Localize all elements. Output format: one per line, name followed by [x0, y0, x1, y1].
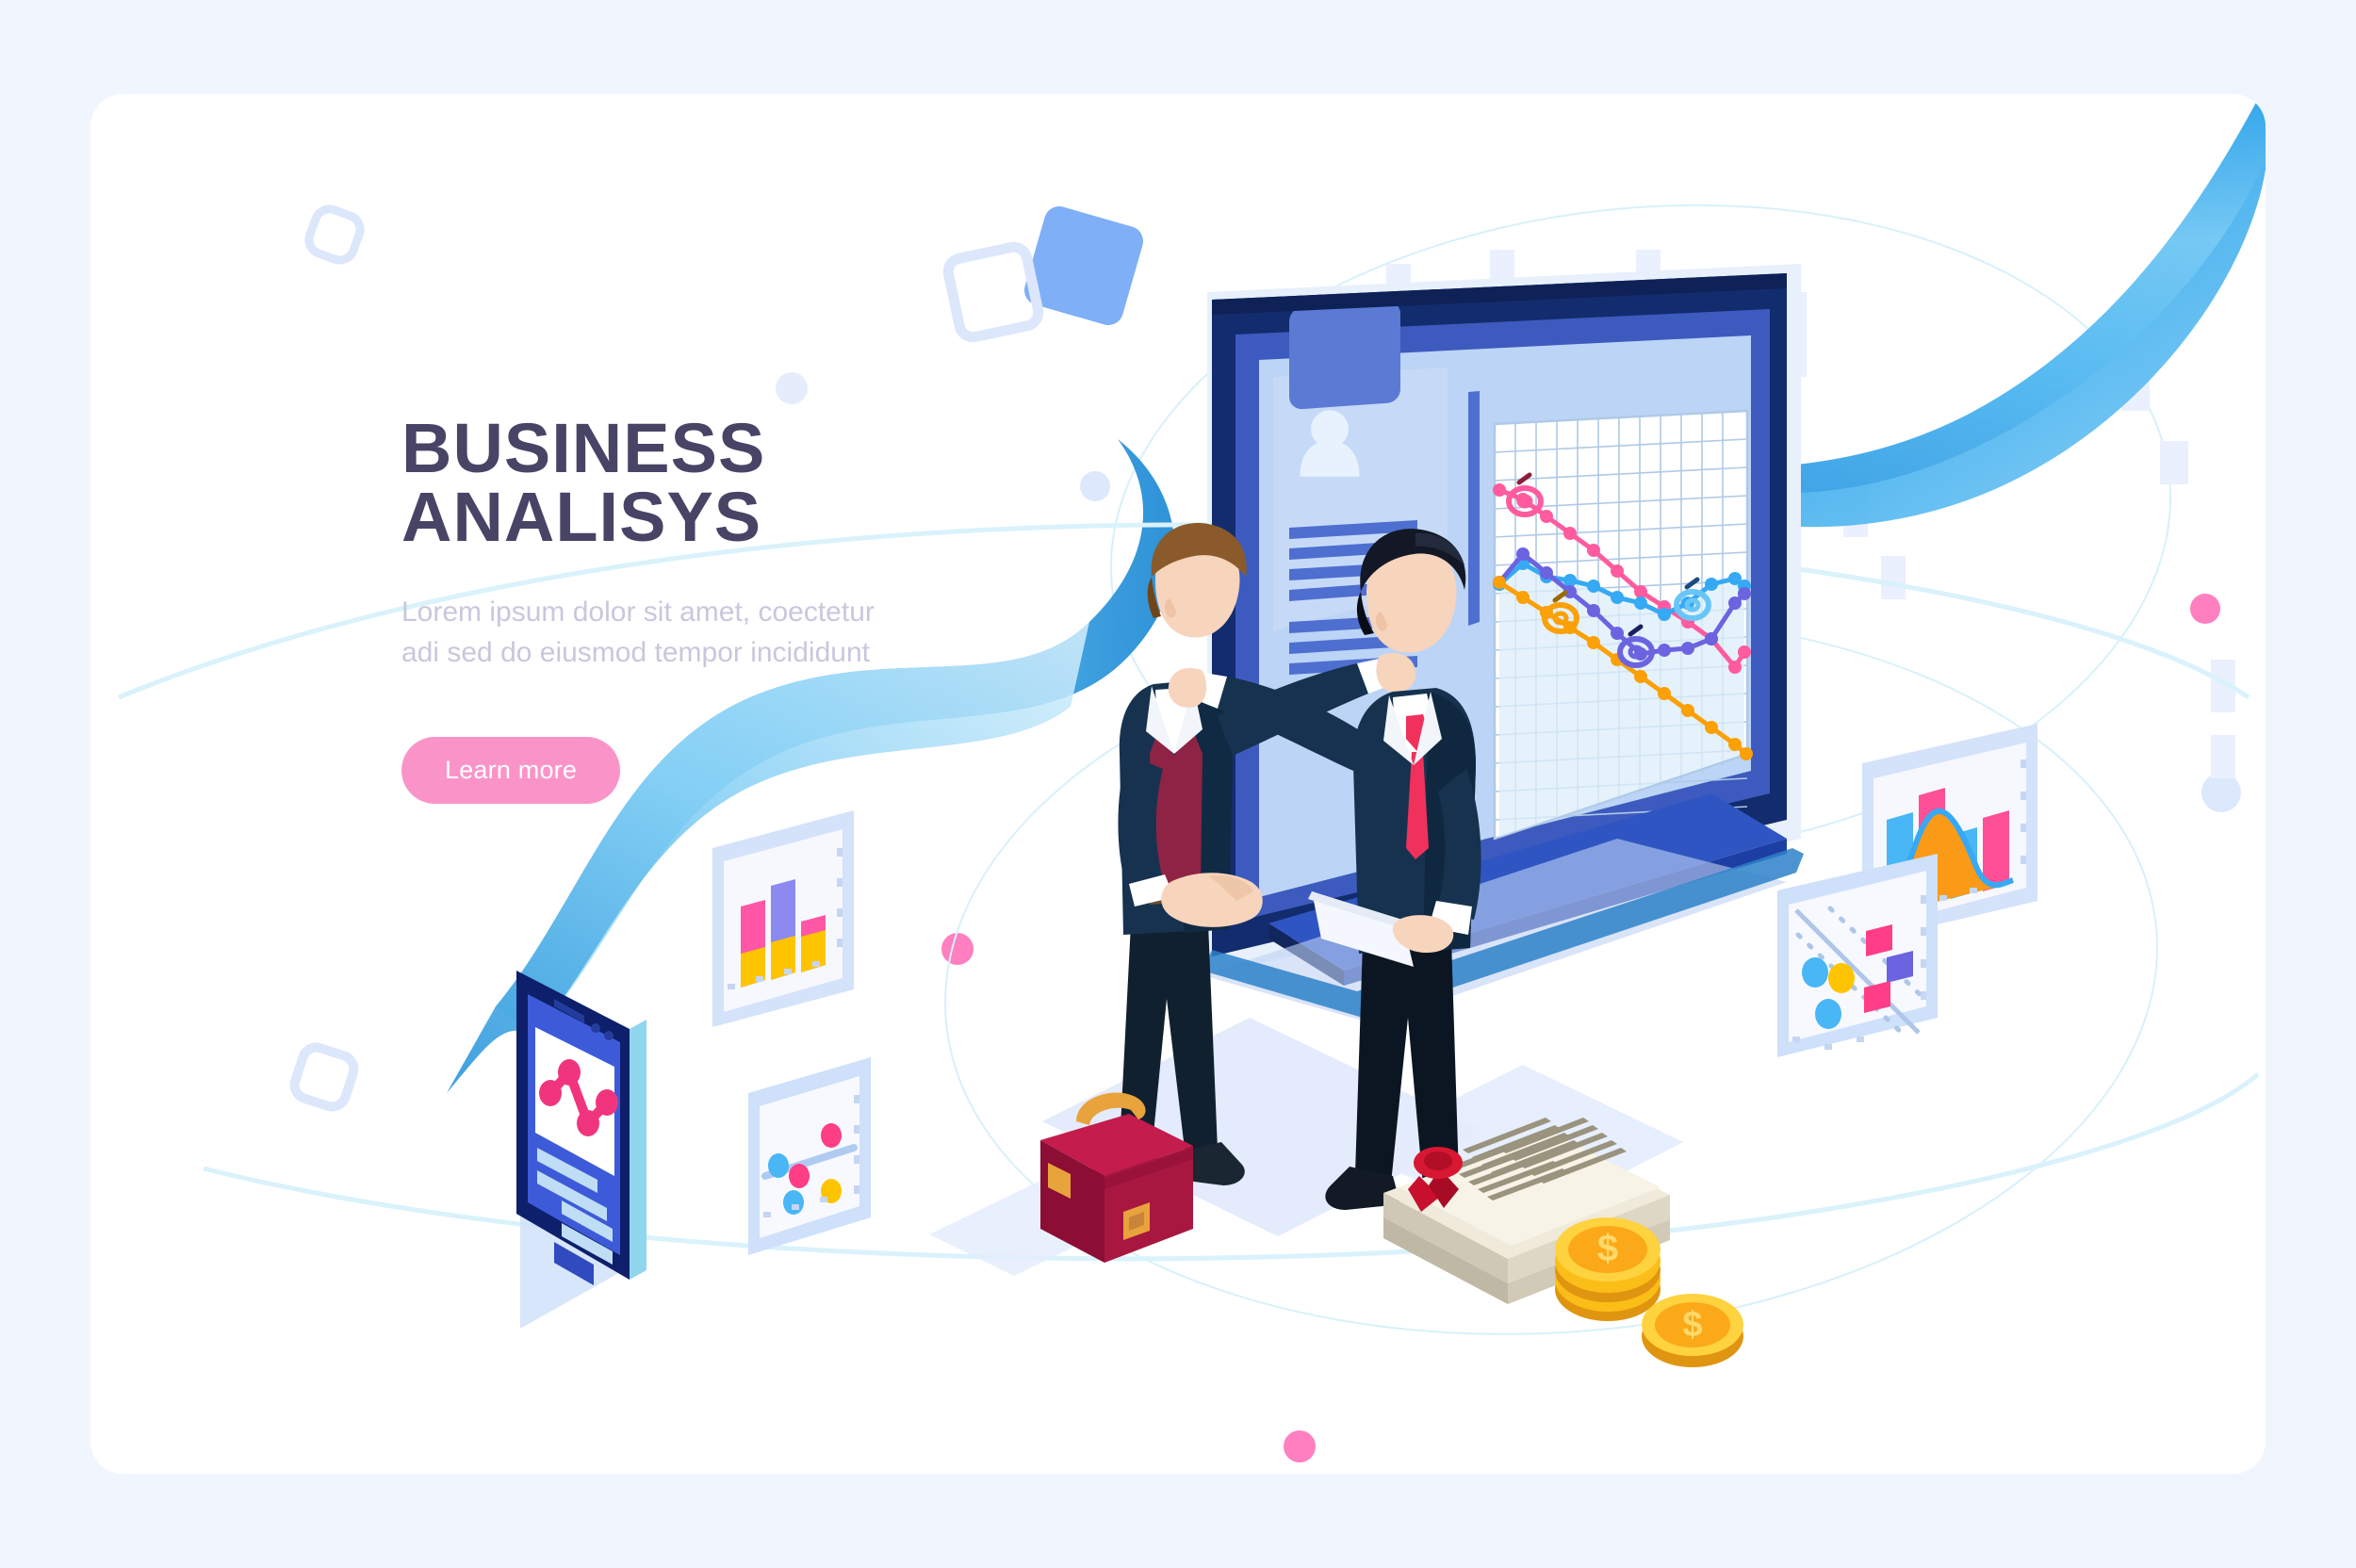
hero-subtitle: Lorem ipsum dolor sit amet, coectetur ad…: [401, 593, 1005, 673]
svg-text:$: $: [1597, 1228, 1618, 1269]
subtitle-line-1: Lorem ipsum dolor sit amet, coectetur: [401, 596, 875, 628]
page-title: BUSINESS ANALISYS: [401, 415, 1118, 551]
page-root: $ $ BUSINESS ANALISYS Lorem ipsum dolor …: [0, 0, 2356, 1568]
subtitle-line-2: adi sed do eiusmod tempor incididunt: [401, 637, 870, 668]
svg-text:$: $: [1682, 1305, 1702, 1345]
headline-line-1: BUSINESS: [401, 409, 765, 487]
headline-line-2: ANALISYS: [401, 478, 761, 556]
hero-card: $ $ BUSINESS ANALISYS Lorem ipsum dolor …: [90, 94, 2266, 1474]
gold-coins: $ $: [1555, 1217, 1743, 1367]
learn-more-button[interactable]: Learn more: [401, 737, 620, 804]
hero-text-column: BUSINESS ANALISYS Lorem ipsum dolor sit …: [401, 415, 1118, 804]
